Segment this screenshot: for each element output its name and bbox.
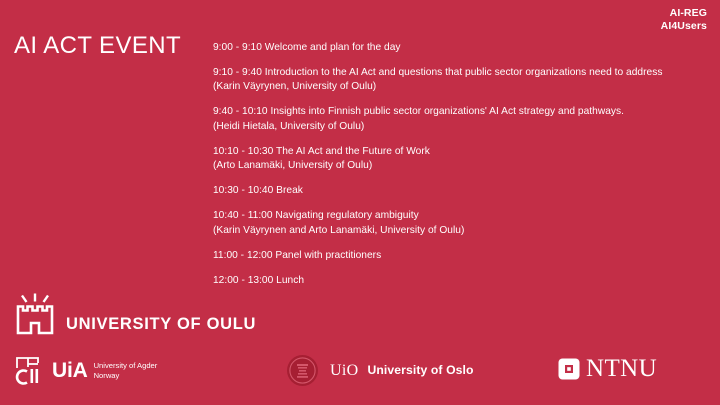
uia-emblem-icon	[14, 355, 45, 386]
agenda-line: 10:10 - 10:30 The AI Act and the Future …	[213, 145, 707, 159]
presentation-slide: AI-REG AI4Users AI ACT EVENT 9:00 - 9:10…	[0, 0, 720, 405]
uio-logo: UiO University of Oslo	[286, 354, 474, 387]
agenda-line: 11:00 - 12:00 Panel with practitioners	[213, 249, 707, 263]
agenda-item: 12:00 - 13:00 Lunch	[213, 274, 707, 288]
agenda-line: 12:00 - 13:00 Lunch	[213, 274, 707, 288]
ntnu-logo: NTNU	[558, 356, 657, 381]
uio-acronym: UiO	[330, 363, 358, 379]
uia-acronym: UiA	[52, 360, 88, 381]
uia-text-block: UiA University of Agder Norway	[52, 360, 157, 381]
uio-seal-icon	[286, 354, 319, 387]
agenda-line-speaker: (Arto Lanamäki, University of Oulu)	[213, 159, 707, 173]
agenda-line: 9:00 - 9:10 Welcome and plan for the day	[213, 41, 707, 55]
project-brand-badge: AI-REG AI4Users	[661, 7, 707, 34]
uia-tagline-line-1: University of Agder	[94, 361, 158, 371]
ntnu-square-icon	[558, 358, 580, 380]
agenda-line-speaker: (Karin Väyrynen and Arto Lanamäki, Unive…	[213, 224, 707, 238]
oulu-castle-tower-icon	[13, 292, 57, 336]
uia-logo: UiA University of Agder Norway	[14, 355, 157, 386]
uia-tagline: University of Agder Norway	[94, 360, 158, 381]
agenda-item: 11:00 - 12:00 Panel with practitioners	[213, 249, 707, 263]
brand-badge-line-1: AI-REG	[661, 7, 707, 20]
agenda-line: 10:40 - 11:00 Navigating regulatory ambi…	[213, 209, 707, 223]
agenda-item: 10:40 - 11:00 Navigating regulatory ambi…	[213, 209, 707, 238]
uia-tagline-line-2: Norway	[94, 371, 158, 381]
agenda-line: 9:10 - 9:40 Introduction to the AI Act a…	[213, 66, 707, 80]
uio-name: University of Oslo	[367, 364, 473, 376]
agenda-list: 9:00 - 9:10 Welcome and plan for the day…	[213, 41, 707, 299]
partner-logo-row: UiA University of Agder Norway	[0, 352, 720, 398]
agenda-item: 10:30 - 10:40 Break	[213, 184, 707, 198]
agenda-line-speaker: (Heidi Hietala, University of Oulu)	[213, 120, 707, 134]
agenda-item: 9:10 - 9:40 Introduction to the AI Act a…	[213, 66, 707, 95]
agenda-line: 10:30 - 10:40 Break	[213, 184, 707, 198]
oulu-wordmark: UNIVERSITY OF OULU	[66, 316, 256, 337]
slide-title: AI ACT EVENT	[14, 32, 181, 60]
brand-badge-line-2: AI4Users	[661, 20, 707, 33]
university-of-oulu-logo: UNIVERSITY OF OULU	[13, 292, 256, 336]
agenda-item: 9:40 - 10:10 Insights into Finnish publi…	[213, 105, 707, 134]
agenda-item: 10:10 - 10:30 The AI Act and the Future …	[213, 145, 707, 174]
ntnu-wordmark: NTNU	[586, 356, 657, 381]
uio-text-block: UiO University of Oslo	[330, 363, 474, 379]
agenda-line: 9:40 - 10:10 Insights into Finnish publi…	[213, 105, 707, 119]
agenda-item: 9:00 - 9:10 Welcome and plan for the day	[213, 41, 707, 55]
agenda-line-speaker: (Karin Väyrynen, University of Oulu)	[213, 80, 707, 94]
